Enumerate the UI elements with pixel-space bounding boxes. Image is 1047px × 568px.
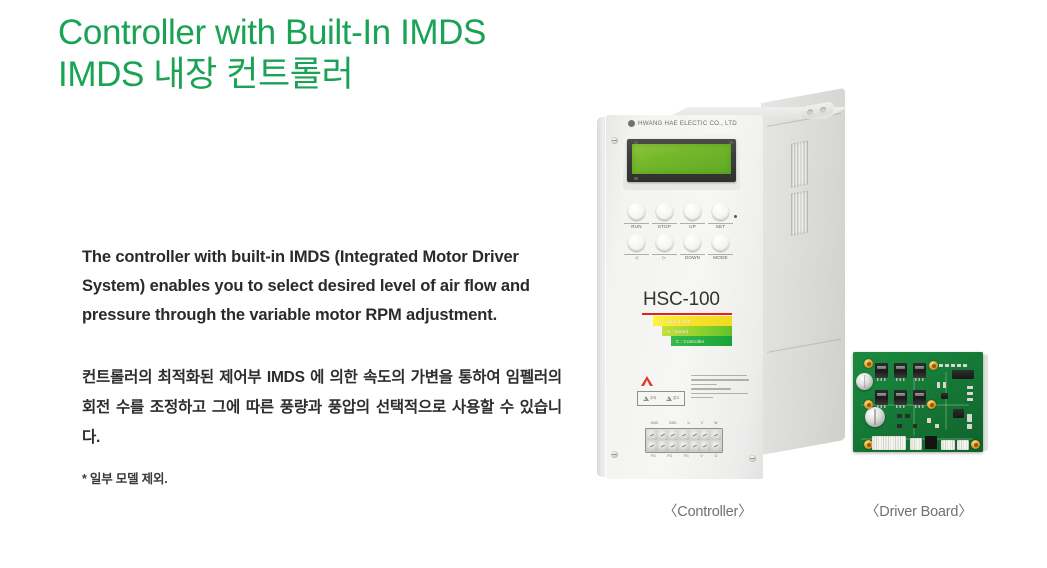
brand-mark: HWANG HAE ELECTIC CO., LTD bbox=[628, 120, 737, 127]
transistor bbox=[894, 363, 907, 378]
controller-side-panel bbox=[761, 88, 845, 455]
connector-header[interactable] bbox=[941, 440, 955, 450]
integrated-circuit bbox=[953, 409, 964, 418]
brand-name: HWANG HAE ELECTIC CO., LTD bbox=[638, 120, 737, 127]
integrated-circuit bbox=[952, 370, 974, 379]
mounting-standoff bbox=[929, 361, 938, 370]
model-number: HSC-100 bbox=[643, 289, 720, 311]
warning-symbol-box: 주의 경고 bbox=[637, 391, 685, 406]
button-label-stop: STOP bbox=[652, 224, 677, 229]
transistor bbox=[894, 390, 907, 405]
caption-controller: 〈Controller〉 bbox=[663, 500, 752, 521]
pcb bbox=[853, 352, 983, 452]
title-line-korean: IMDS 내장 컨트롤러 bbox=[58, 54, 618, 96]
product-photo: HWANG HAE ELECTIC CO., LTD RUN STOP UP S… bbox=[560, 85, 1047, 525]
warning-mark-caution: 주의 bbox=[643, 396, 657, 401]
color-bar-speed: S : Speed bbox=[662, 326, 732, 336]
description-english: The controller with built-in IMDS (Integ… bbox=[82, 243, 562, 330]
terminal-block[interactable] bbox=[645, 428, 723, 453]
terminal-screw[interactable] bbox=[647, 441, 657, 451]
transistor bbox=[875, 390, 888, 405]
mounting-standoff bbox=[927, 400, 936, 409]
warning-text-lines bbox=[691, 375, 751, 401]
terminal-screw[interactable] bbox=[679, 441, 689, 451]
title-line-english: Controller with Built-In IMDS bbox=[58, 12, 618, 54]
terminal-labels-bottom: FG FG FG V G bbox=[645, 454, 723, 458]
terminal-screw[interactable] bbox=[658, 430, 668, 440]
terminal-screw[interactable] bbox=[700, 441, 710, 451]
terminal-screw[interactable] bbox=[711, 441, 721, 451]
footnote: * 일부 모델 제외. bbox=[82, 468, 562, 487]
button-label-mode: MODE bbox=[708, 255, 733, 260]
button-label-up: UP bbox=[680, 224, 705, 229]
button-up[interactable] bbox=[684, 203, 701, 220]
connector-header[interactable] bbox=[910, 438, 922, 450]
case-screw bbox=[611, 451, 618, 458]
color-bar-label-s: S : Speed bbox=[662, 329, 688, 334]
terminal-screw[interactable] bbox=[690, 430, 700, 440]
connector-header[interactable] bbox=[957, 440, 969, 450]
warning-triangle-icon bbox=[641, 376, 653, 386]
button-label-right: ▷ bbox=[652, 255, 677, 261]
integrated-circuit bbox=[941, 393, 948, 399]
lcd-display[interactable] bbox=[632, 144, 731, 174]
button-stop[interactable] bbox=[656, 203, 673, 220]
case-screw bbox=[611, 137, 618, 144]
button-run[interactable] bbox=[628, 203, 645, 220]
mounting-standoff bbox=[971, 440, 980, 449]
warning-mark-danger: 경고 bbox=[666, 396, 680, 401]
terminal-labels-top: GND GND U V W bbox=[645, 421, 723, 425]
terminal-screw[interactable] bbox=[668, 441, 678, 451]
capacitor bbox=[856, 373, 873, 390]
danger-triangle-icon bbox=[666, 396, 672, 401]
transistor bbox=[875, 363, 888, 378]
case-screw bbox=[749, 455, 756, 462]
description-korean: 컨트롤러의 최적화된 제어부 IMDS 에 의한 속도의 가변을 통하여 임펠러… bbox=[82, 363, 562, 453]
color-bar-hwanghae: H : Hwang Hae bbox=[653, 316, 732, 326]
terminal-screw[interactable] bbox=[658, 441, 668, 451]
color-bar-label-c: C : Controller bbox=[671, 339, 704, 344]
button-down[interactable] bbox=[684, 234, 701, 251]
vent-grille-upper bbox=[791, 141, 808, 188]
capacitor bbox=[865, 407, 885, 427]
terminal-screw[interactable] bbox=[647, 430, 657, 440]
color-bar-label-h: H : Hwang Hae bbox=[653, 319, 690, 324]
button-label-run: RUN bbox=[624, 224, 649, 229]
connector-header[interactable] bbox=[872, 436, 906, 450]
button-mode[interactable] bbox=[712, 234, 729, 251]
driver-board-unit bbox=[846, 352, 992, 455]
button-label-down: DOWN bbox=[680, 255, 705, 260]
transistor bbox=[913, 363, 926, 378]
button-label-set: SET bbox=[708, 224, 733, 229]
color-bar-controller: C : Controller bbox=[671, 336, 732, 346]
transistor bbox=[913, 390, 926, 405]
description-block: The controller with built-in IMDS (Integ… bbox=[82, 226, 562, 500]
terminal-screw[interactable] bbox=[700, 430, 710, 440]
connector-block[interactable] bbox=[925, 436, 937, 449]
caption-driver-board: 〈Driver Board〉 bbox=[865, 500, 973, 521]
terminal-screw[interactable] bbox=[690, 441, 700, 451]
controller-unit: HWANG HAE ELECTIC CO., LTD RUN STOP UP S… bbox=[605, 103, 830, 483]
mounting-standoff bbox=[864, 400, 873, 409]
terminal-screw[interactable] bbox=[711, 430, 721, 440]
caution-triangle-icon bbox=[643, 396, 649, 401]
button-left[interactable] bbox=[628, 234, 645, 251]
accent-rule bbox=[642, 313, 732, 315]
button-label-left: ◁ bbox=[624, 255, 649, 261]
button-right[interactable] bbox=[656, 234, 673, 251]
button-set[interactable] bbox=[712, 203, 729, 220]
page-title: Controller with Built-In IMDS IMDS 내장 컨트… bbox=[58, 12, 618, 96]
terminal-screw[interactable] bbox=[679, 430, 689, 440]
terminal-screw[interactable] bbox=[668, 430, 678, 440]
mounting-standoff bbox=[864, 359, 873, 368]
vent-grille-lower bbox=[791, 191, 808, 236]
brand-logo-icon bbox=[628, 120, 635, 127]
